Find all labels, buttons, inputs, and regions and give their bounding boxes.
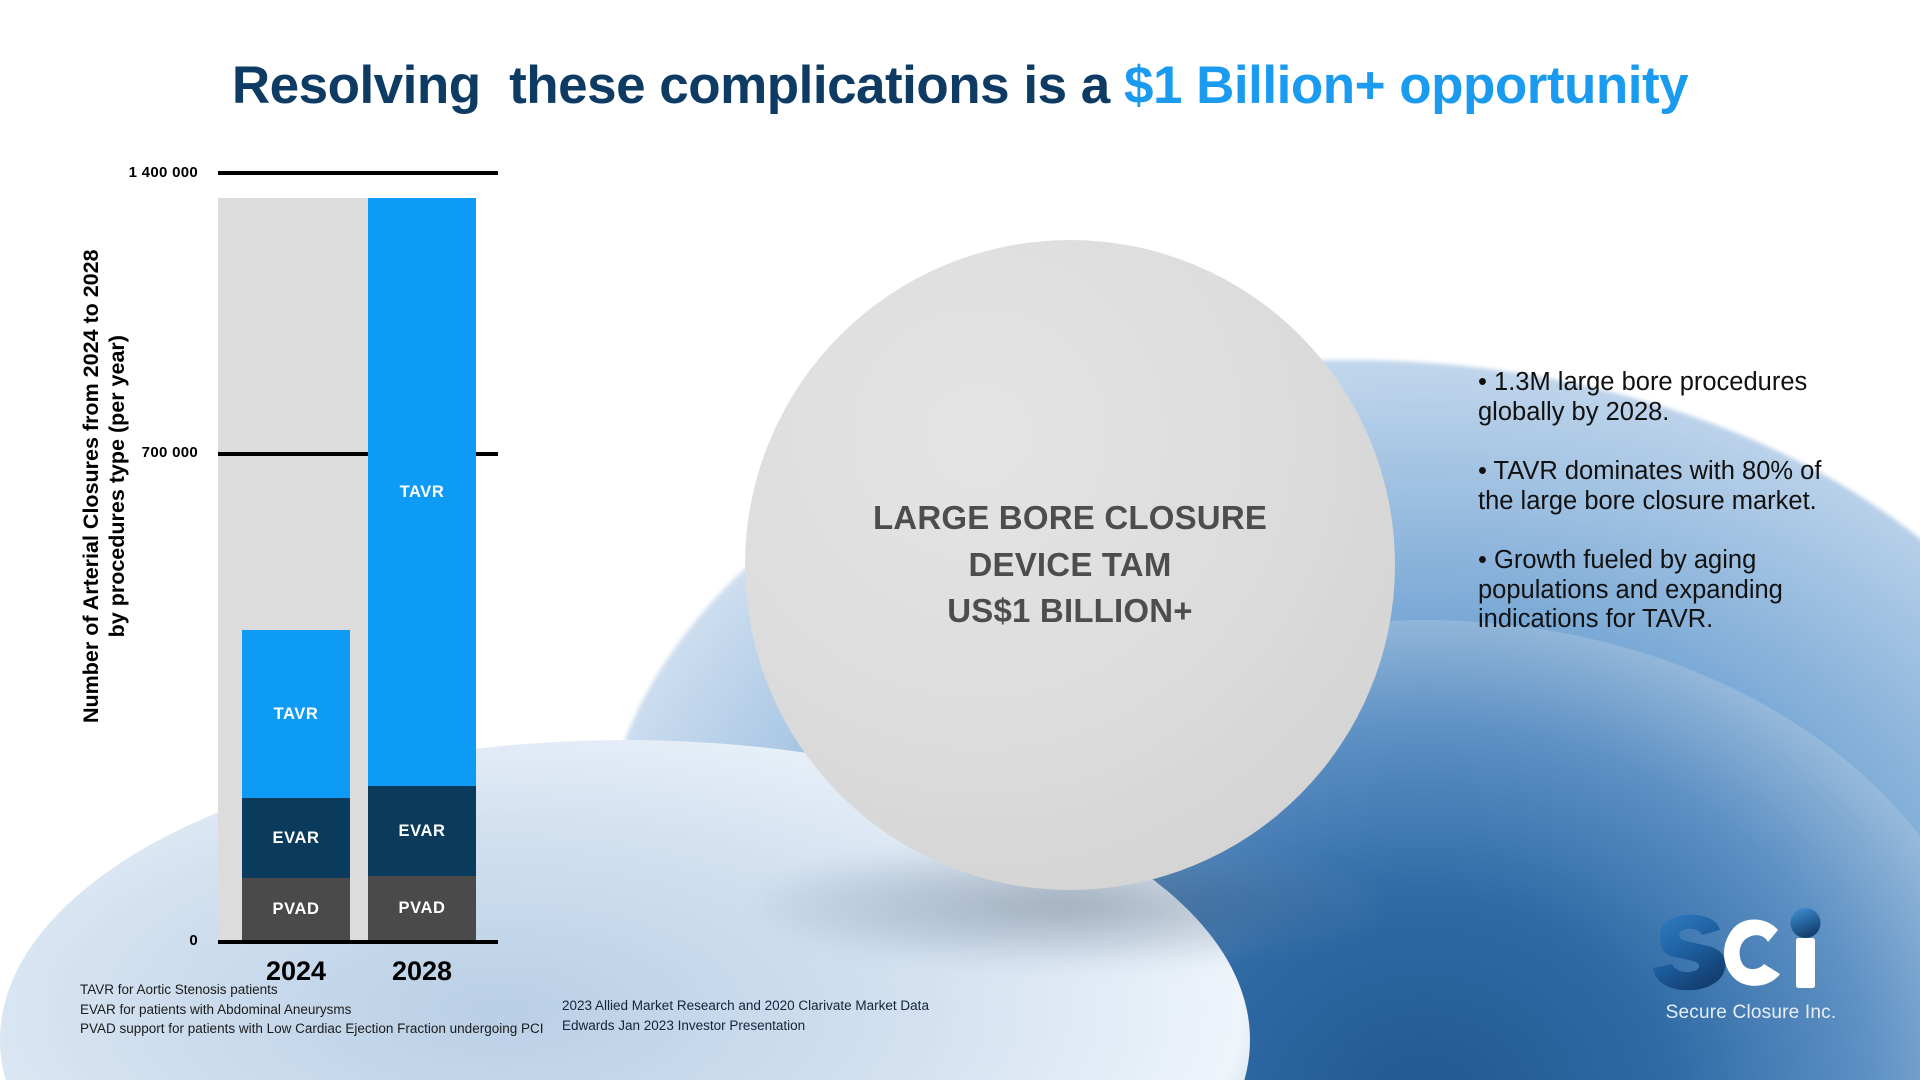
footnote-source-line: 2023 Allied Market Research and 2020 Cla… [562,996,929,1016]
footnote-source-line: Edwards Jan 2023 Investor Presentation [562,1016,929,1036]
y-tick-label-1400000: 1 400 000 [129,164,198,181]
footnote-sources: 2023 Allied Market Research and 2020 Cla… [562,996,929,1035]
bar-segment-2024-pvad[interactable]: PVAD [242,878,350,940]
list-item: • 1.3M large bore procedures globally by… [1478,368,1838,427]
bar-segment-2024-tavr[interactable]: TAVR [242,630,350,798]
page-title-highlight: $1 Billion+ opportunity [1124,56,1688,115]
y-axis-label: Number of Arterial Closures from 2024 to… [78,246,130,726]
bar-segment-2024-evar[interactable]: EVAR [242,798,350,878]
footnote-line: TAVR for Aortic Stenosis patients [80,980,543,1000]
tam-line-2: DEVICE TAM [873,542,1267,589]
footnote-line: EVAR for patients with Abdominal Aneurys… [80,1000,543,1020]
x-axis-baseline [218,940,498,944]
bar-2028[interactable]: TAVR EVAR PVAD [368,198,476,940]
tam-line-1: LARGE BORE CLOSURE [873,495,1267,542]
page-title: Resolving these complications is a $1 Bi… [0,56,1920,117]
bar-segment-2028-pvad[interactable]: PVAD [368,876,476,940]
slide-canvas: Resolving these complications is a $1 Bi… [0,0,1920,1080]
bar-2024[interactable]: TAVR EVAR PVAD [242,630,350,940]
company-logo: Secure Closure Inc. [1636,908,1866,1038]
stacked-bar-chart: Number of Arterial Closures from 2024 to… [70,160,630,950]
bar-segment-2028-evar[interactable]: EVAR [368,786,476,876]
tam-circle: LARGE BORE CLOSURE DEVICE TAM US$1 BILLI… [745,240,1395,890]
y-tick-label-700000: 700 000 [142,444,198,461]
y-tick-line-1400000 [218,171,498,175]
y-axis-label-line1: Number of Arterial Closures from 2024 to… [79,249,103,723]
company-name: Secure Closure Inc. [1636,1002,1866,1024]
tam-text: LARGE BORE CLOSURE DEVICE TAM US$1 BILLI… [873,495,1267,636]
tam-line-3: US$1 BILLION+ [873,588,1267,635]
key-points-list: • 1.3M large bore procedures globally by… [1478,368,1838,635]
bar-segment-2028-tavr[interactable]: TAVR [368,198,476,786]
y-tick-label-0: 0 [189,932,198,949]
sci-logo-icon [1646,908,1856,1000]
y-axis-label-line2: by procedures type (per year) [105,335,129,637]
list-item: • Growth fueled by aging populations and… [1478,546,1838,635]
list-item: • TAVR dominates with 80% of the large b… [1478,457,1838,516]
footnote-definitions: TAVR for Aortic Stenosis patients EVAR f… [80,980,543,1039]
page-title-lead: Resolving these complications is a [232,56,1124,115]
footnote-line: PVAD support for patients with Low Cardi… [80,1019,543,1039]
